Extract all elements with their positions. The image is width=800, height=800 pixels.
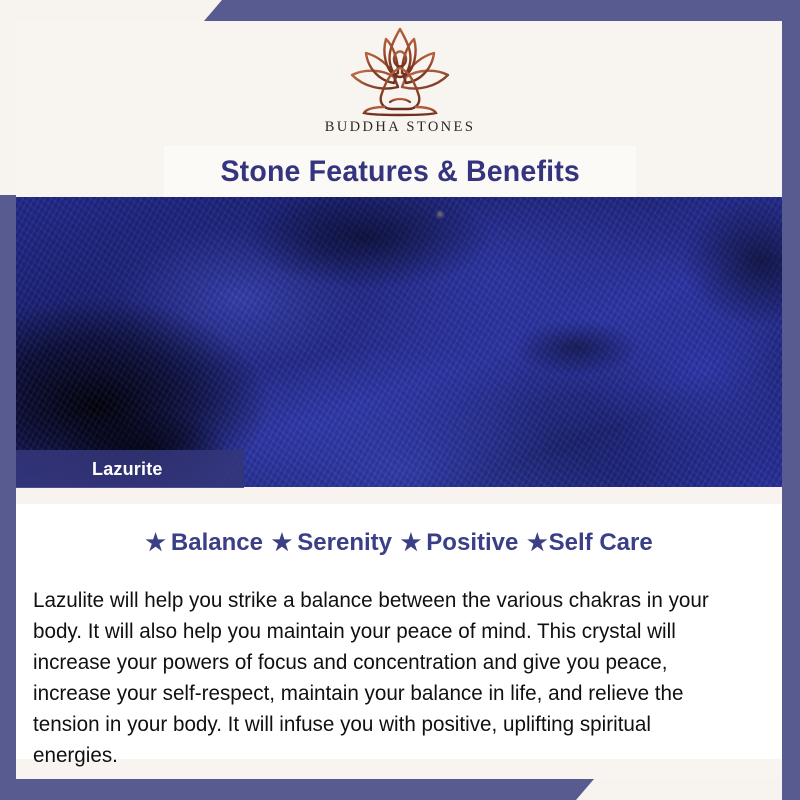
frame-right-band (782, 0, 800, 800)
benefit-item-self-care: ★Self Care (527, 529, 653, 557)
star-icon: ★ (145, 529, 166, 555)
benefits-list: ★Balance ★Serenity ★Positive ★Self Care (16, 529, 782, 557)
benefit-item-positive: ★Positive (401, 529, 519, 557)
frame-top-band (0, 0, 800, 21)
star-icon: ★ (527, 529, 548, 555)
star-icon: ★ (272, 529, 293, 555)
benefit-item-balance: ★Balance (145, 529, 263, 557)
lotus-meditation-icon (342, 25, 458, 117)
title-banner: Stone Features & Benefits (164, 146, 636, 197)
lazurite-stone-photo (0, 197, 800, 487)
benefit-label: Self Care (549, 529, 653, 556)
photo-texture-shadows (0, 197, 800, 487)
brand-name: BUDDHA STONES (0, 119, 800, 136)
benefit-label: Balance (171, 529, 263, 556)
benefit-label: Serenity (297, 529, 392, 556)
content-top-divider (16, 487, 782, 504)
content-card: ★Balance ★Serenity ★Positive ★Self Care … (16, 487, 782, 759)
poster-canvas: BUDDHA STONES Stone Features & Benefits … (0, 0, 800, 800)
brand-logo: BUDDHA STONES (0, 25, 800, 136)
benefit-label: Positive (426, 529, 518, 556)
benefit-item-serenity: ★Serenity (272, 529, 392, 557)
page-title: Stone Features & Benefits (220, 155, 580, 189)
frame-left-band (0, 195, 16, 785)
star-icon: ★ (401, 529, 422, 555)
stone-name-label: Lazurite (16, 459, 163, 480)
frame-bottom-band (0, 779, 800, 800)
stone-name-tag: Lazurite (16, 450, 244, 488)
stone-description: Lazulite will help you strike a balance … (33, 585, 722, 771)
